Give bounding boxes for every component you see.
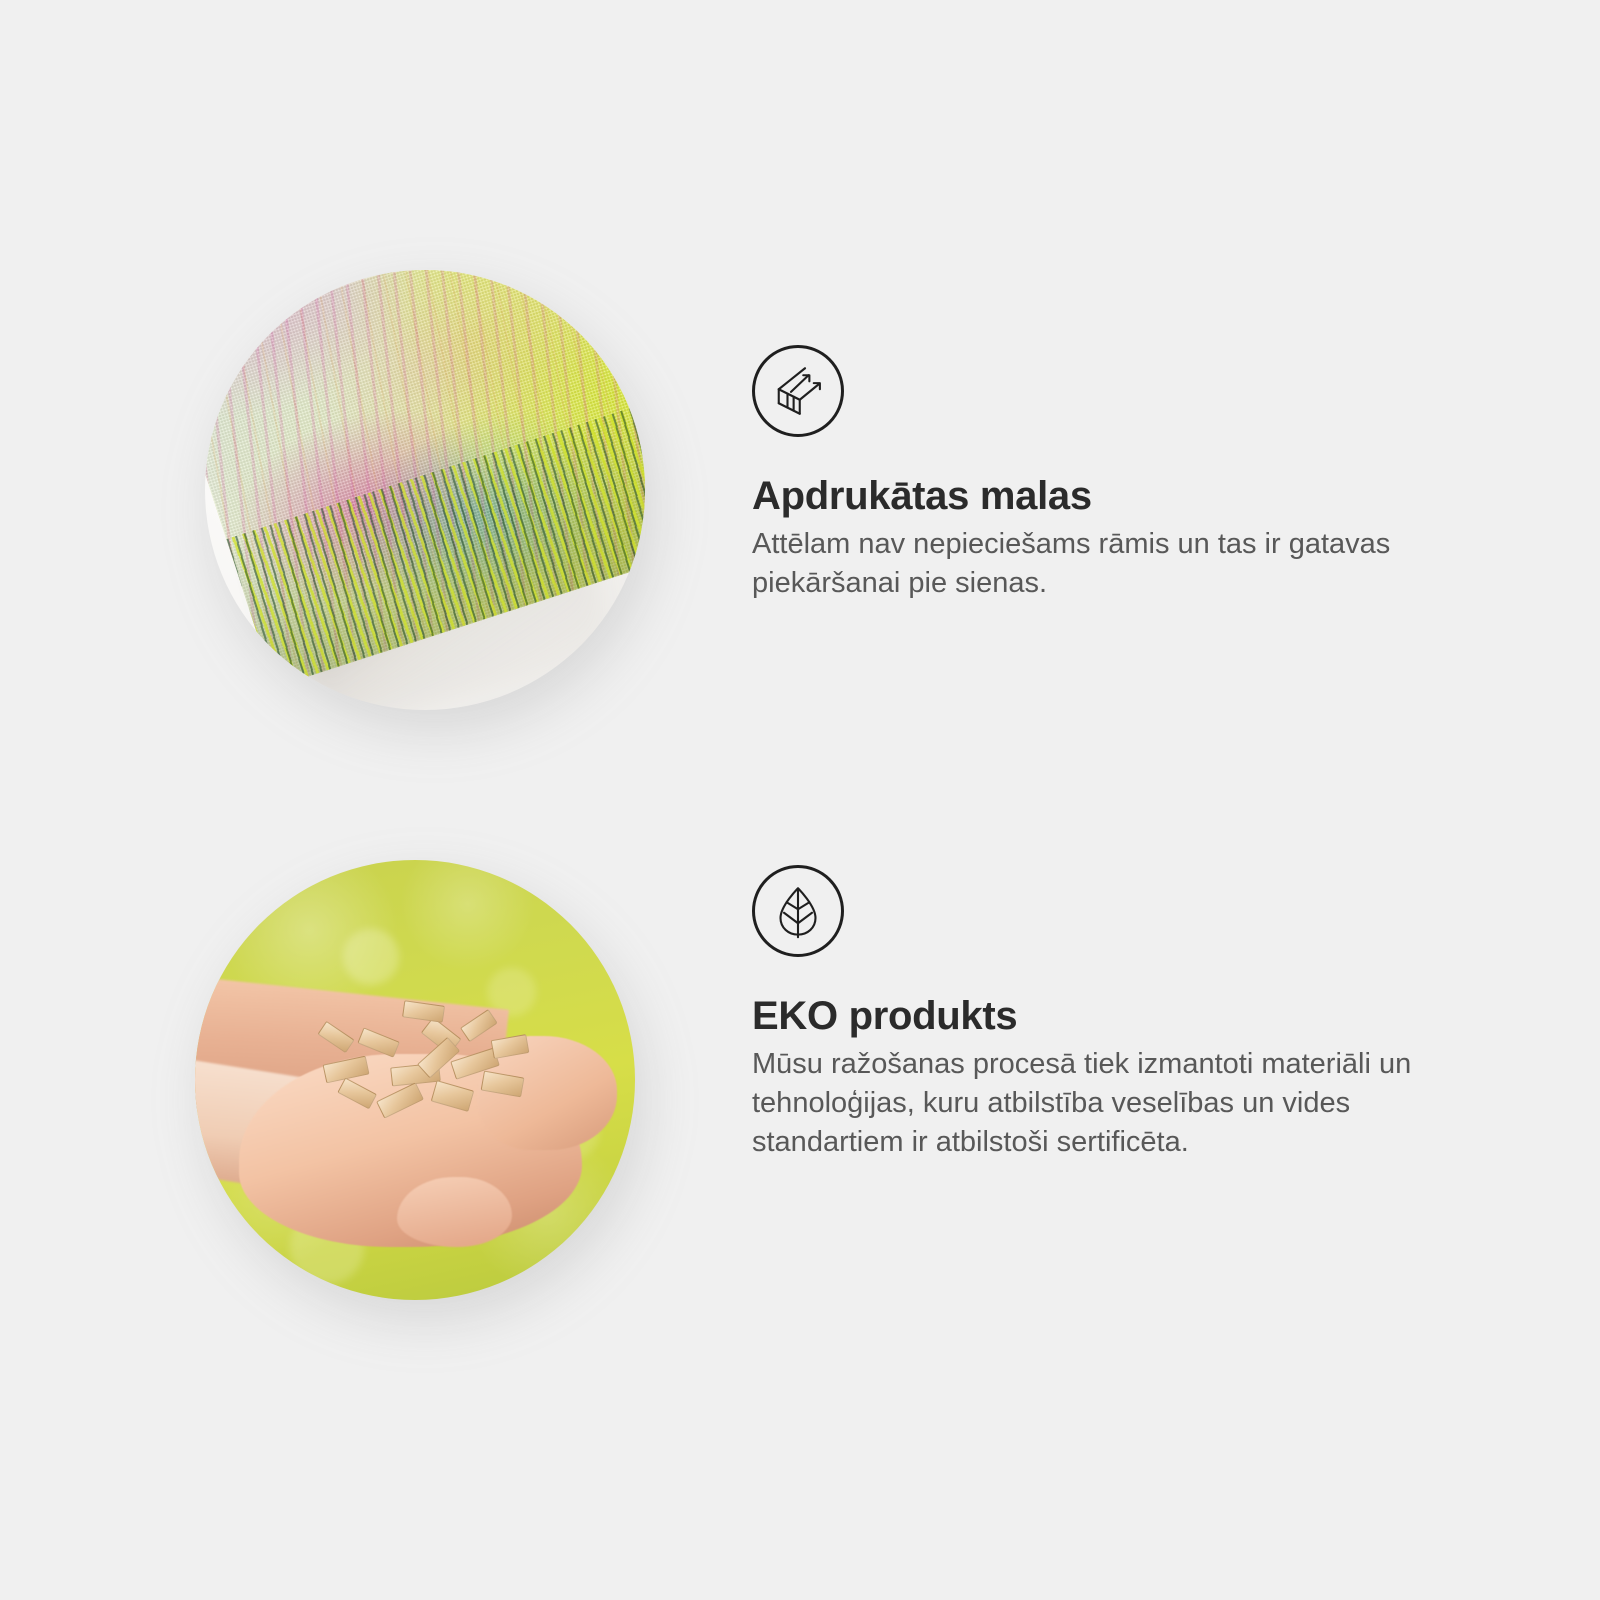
photo-circle-mask [205,270,645,710]
eco-scene [195,860,635,1300]
feature-page: Apdrukātas malas Attēlam nav nepieciešam… [0,0,1600,1600]
leaf-icon [752,865,844,957]
canvas-scene [205,270,645,710]
printed-edges-content: Apdrukātas malas Attēlam nav nepieciešam… [752,345,1472,603]
canvas-wrapped-edges-icon [752,345,844,437]
feature-description: Mūsu ražošanas procesā tiek izmantoti ma… [752,1045,1462,1162]
feature-description: Attēlam nav nepieciešams rāmis un tas ir… [752,525,1462,603]
feature-printed-edges: Apdrukātas malas Attēlam nav nepieciešam… [0,250,1600,770]
eco-product-content: EKO produkts Mūsu ražošanas procesā tiek… [752,865,1472,1162]
feature-title: Apdrukātas malas [752,473,1472,519]
thumb [397,1177,511,1247]
wood-chips [309,992,555,1133]
photo-circle-mask [195,860,635,1300]
eco-photo [195,860,635,1300]
feature-eco-product: EKO produkts Mūsu ražošanas procesā tiek… [0,840,1600,1360]
feature-title: EKO produkts [752,993,1472,1039]
canvas-print-photo [205,270,645,710]
